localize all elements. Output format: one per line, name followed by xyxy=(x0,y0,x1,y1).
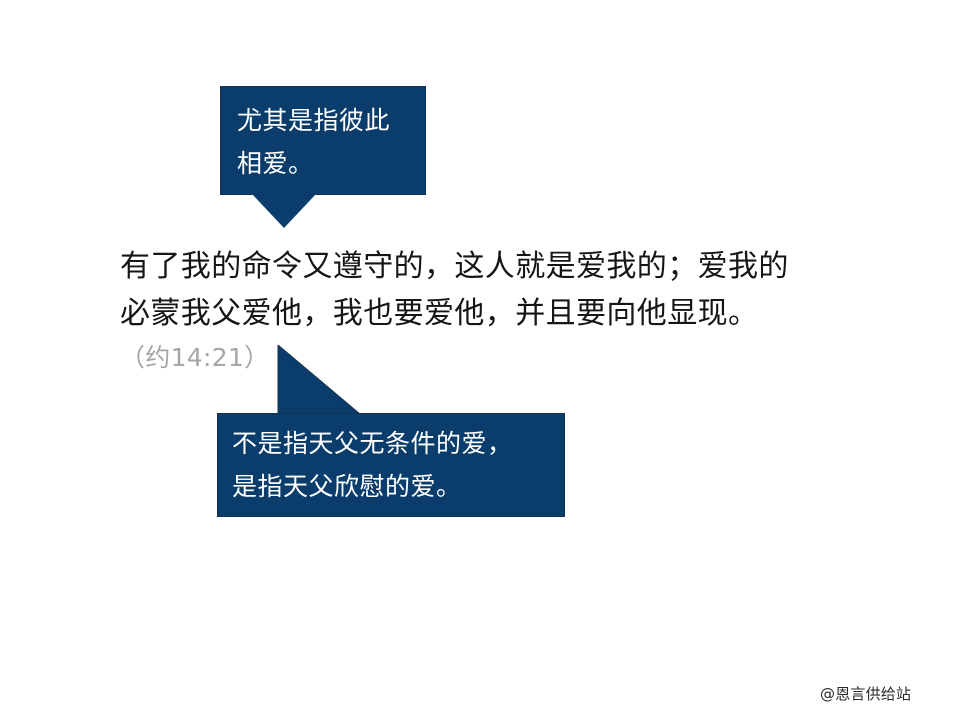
callout-top-text: 尤其是指彼此 相爱。 xyxy=(237,99,419,185)
callout-bottom-tail-icon xyxy=(277,345,361,415)
callout-bottom-text: 不是指天父无条件的爱， 是指天父欣慰的爱。 xyxy=(232,422,562,508)
callout-top: 尤其是指彼此 相爱。 xyxy=(220,86,426,195)
slide-canvas: 尤其是指彼此 相爱。 有了我的命令又遵守的，这人就是爱我的；爱我的 必蒙我父爱他… xyxy=(0,0,960,720)
watermark-handle: @恩言供给站 xyxy=(820,683,911,704)
scripture-body: 有了我的命令又遵守的，这人就是爱我的；爱我的 必蒙我父爱他，我也要爱他，并且要向… xyxy=(120,243,840,337)
scripture-reference: （约14:21） xyxy=(120,340,269,376)
callout-top-tail-icon xyxy=(252,194,316,228)
callout-bottom: 不是指天父无条件的爱， 是指天父欣慰的爱。 xyxy=(217,413,565,517)
